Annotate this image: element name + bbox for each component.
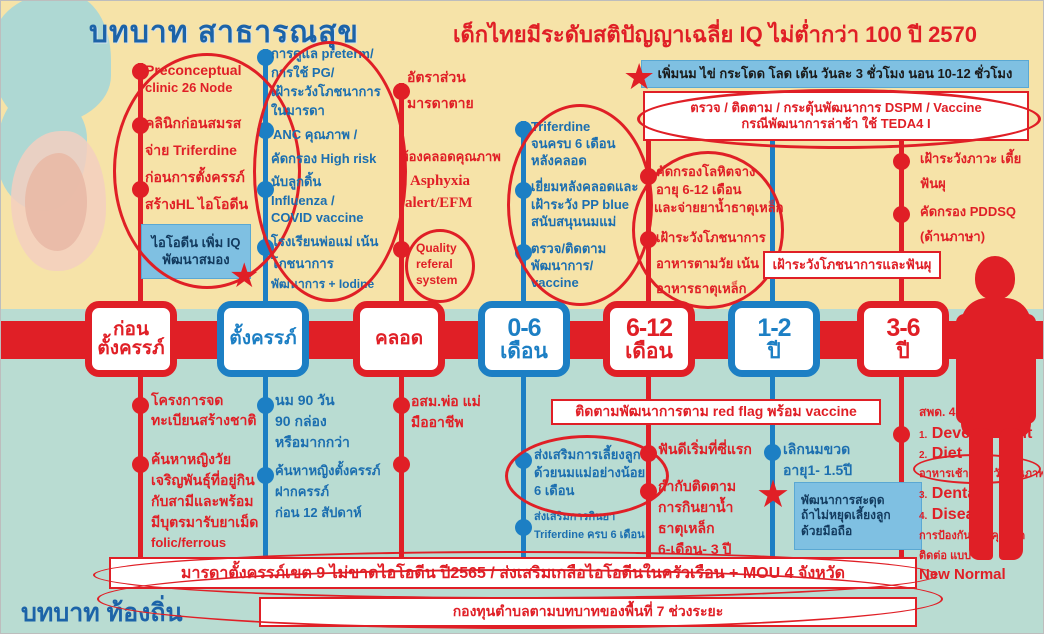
birth-ratio-line1: อัตราส่วน [407,69,466,86]
six-twelve-line3: และจ่ายยาน้ำธาตุเหล็ก [654,200,784,215]
zero-six-line8: พัฒนาการ/ [531,258,593,273]
bottom-pre-line7: folic/ferrous [151,535,226,550]
child-silhouette-illustration [959,256,1033,576]
bottom-one-two-line2: อายุ1- 1.5ปี [783,462,852,479]
zero-six-line9: vaccine [531,275,579,290]
node-dot-36-1 [893,153,910,170]
anc-line6: คัดกรอง High risk [271,151,376,166]
anc-line7: นับลูกดิ้น [271,174,321,189]
birth-efm-line: alert/EFM [405,195,472,213]
node-dot-pre-b2 [132,456,149,473]
star-icon-activity: ★ [623,59,655,95]
node-dot-pre-b1 [132,397,149,414]
quality-referral-line1: Quality [416,241,457,255]
zero-six-line2: จนครบ 6 เดือน [531,136,615,151]
bottom-pre-line3: ค้นหาหญิงวัย [151,451,231,468]
zero-six-line4: เยี่ยมหลังคลอดและ [531,179,638,194]
stage-box-pregnancy[interactable]: ตั้งครรภ์ [217,301,309,377]
preconceptual-th-line2: จ่าย Triferdine [145,142,237,159]
bottom-six-twelve-line5: 6-เดือน- 3 ปี [658,541,731,558]
node-dot-preg-b2 [257,467,274,484]
activity-blue-banner: เพิ่มนม ไข่ กระโดด โลด เต้น วันละ 3 ชั่ว… [641,60,1029,88]
zero-six-line5: เฝ้าระวัง PP blue [531,197,629,212]
bottom-six-twelve-line4: ธาตุเหล็ก [658,520,715,537]
quality-referral-line2: referal [416,257,453,271]
node-dot-06-b2 [515,519,532,536]
zero-six-line1: Triferdine [531,119,590,134]
anc-line12: พัฒนาการ + Iodine [271,277,374,291]
bottom-preg-line4: ค้นหาหญิงตั้งครรภ์ [275,463,380,478]
three-six-line3: คัดกรอง PDDSQ [920,204,1016,219]
bottom-preg-line3: หรือมากกว่า [275,434,350,451]
tambon-fund-banner: กองทุนตำบลตามบทบาทของพื้นที่ 7 ช่วงระยะ [259,597,917,627]
connector-line-birth-top [399,83,404,303]
four-d-item-2-label: Diet [932,445,962,462]
dspm-callout-line2: กรณีพัฒนาการล่าช้า ใช้ TEDA4 I [741,116,930,132]
node-dot-birth-b1 [393,397,410,414]
nutrition-dental-callout: เฝ้าระวังโภชนาการและฟันผุ [763,251,941,279]
node-dot-06-1 [515,121,532,138]
bottom-preg-line5: ฝากครรภ์ [275,484,329,499]
node-dot-birth-2 [393,241,410,258]
node-dot-06-b1 [515,452,532,469]
page-title-local-role: บทบาท ท้องถิ่น [21,593,183,633]
anc-line4: ในมารดา [271,103,325,118]
node-dot-birth-b2 [393,456,410,473]
bottom-birth-line1: อสม.พ่อ แม่ [411,393,481,410]
red-flag-banner: ติดตามพัฒนาการตาม red flag พร้อม vaccine [551,399,881,425]
preconceptual-th-line3: ก่อนการตั้งครรภ์ [145,169,245,186]
stage-label-line1: 6-12 [626,316,672,342]
activity-blue-banner-text: เพิ่มนม ไข่ กระโดด โลด เต้น วันละ 3 ชั่ว… [658,66,1013,83]
connector-line-06-bottom [521,375,526,565]
preconceptual-en-line2: clinic 26 Node [145,80,232,95]
stage-label-line1: 1-2 [757,316,790,342]
bottom-six-twelve-line1: ฟันดีเริ่มที่ซี่แรก [658,441,752,458]
six-twelve-line2: อายุ 6-12 เดือน [656,182,742,197]
stage-label-line1: 0-6 [507,316,540,342]
bottom-pre-line5: กับสามีและพร้อม [151,493,254,510]
stage-label-line2: เดือน [500,341,548,362]
anc-line2: การใช้ PG/ [271,65,334,80]
anc-line9: COVID vaccine [271,210,364,225]
bottom-zero-six-line5: Triferdine ครบ 6 เดือน [534,529,645,542]
child-left-leg [969,428,993,560]
stage-label-line1: ก่อน [113,320,149,339]
star-icon-development: ★ [756,476,790,514]
bottom-zero-six-line3: 6 เดือน [534,483,574,498]
six-twelve-line4: เฝ้าระวังโภชนาการ [656,230,766,245]
child-right-leg [999,428,1023,560]
node-dot-612-b1 [640,445,657,462]
birth-quality-line: ท้องคลอดคุณภาพ [400,149,501,164]
anc-line3: เฝ้าระวังโภชนาการ [271,84,381,99]
anc-line8: Influenza / [271,193,335,208]
stage-box-birth[interactable]: คลอด [353,301,445,377]
star-icon-iodine: ★ [229,259,259,293]
iodine-banner: มารดาตั้งครรภ์เขต 9 ไม่ขาดไอโอดีน ปี2565… [109,557,917,589]
node-dot-612-b2 [640,483,657,500]
bottom-birth-line2: มืออาชีพ [411,414,464,431]
birth-asphyxia-line1: Asphyxia [410,173,470,191]
iodine-banner-text: มารดาตั้งครรภ์เขต 9 ไม่ขาดไอโอดีน ปี2565… [181,561,845,586]
node-dot-36-2 [893,206,910,223]
nutrition-dental-callout-text: เฝ้าระวังโภชนาการและฟันผุ [773,257,932,273]
birth-ratio-line2: มารดาตาย [407,95,474,112]
child-head [975,256,1015,300]
bottom-preg-line2: 90 กล่อง [275,413,327,430]
three-six-line4: (ด้านภาษา) [920,229,985,244]
fetus-illustration-inner [25,153,87,251]
node-dot-preg-2 [257,122,274,139]
bottom-zero-six-line2: ด้วยนมแม่อย่างน้อย [534,465,645,480]
tambon-fund-banner-text: กองทุนตำบลตามบทบาทของพื้นที่ 7 ช่วงระยะ [453,601,724,623]
child-right-arm [1019,314,1036,424]
dspm-callout: ตรวจ / ติดตาม / กระตุ้นพัฒนาการ DSPM / V… [643,91,1029,141]
stage-label-line1: คลอด [375,329,423,348]
four-d-item-2-num: 2. [919,450,927,461]
preconceptual-th-line1: คลินิกก่อนสมรส [145,115,241,132]
stage-label-line1: 3-6 [886,316,919,342]
iodine-iq-line2: พัฒนาสมอง [162,252,229,269]
six-twelve-line6: อาหารธาตุเหล็ก [656,281,747,296]
bottom-pre-line6: มีบุตรมารับยาเม็ด [151,514,258,531]
three-six-line2: ฟันผุ [920,176,946,191]
stage-label-line2: ตั้งครรภ์ [97,339,164,358]
dspm-callout-line1: ตรวจ / ติดตาม / กระตุ้นพัฒนาการ DSPM / V… [690,100,981,116]
four-d-item-1-num: 1. [919,430,927,441]
page-title-iq-goal: เด็กไทยมีระดับสติปัญญาเฉลี่ย IQ ไม่ต่ำกว… [453,17,977,52]
bottom-pre-line2: ทะเบียนสร้างชาติ [151,412,256,429]
anc-line10: โรงเรียนพ่อแม่ เน้น [271,234,378,249]
zero-six-line6: สนับสนุนนมแม่ [531,214,616,229]
anc-line1: การดูแล preterm/ [271,46,374,61]
child-left-arm [956,314,973,424]
bottom-six-twelve-line2: กำกับติดตาม [658,478,736,495]
stage-box-6-12-months[interactable]: 6-12 เดือน [603,301,695,377]
node-dot-06-2 [515,182,532,199]
red-flag-banner-text: ติดตามพัฒนาการตาม red flag พร้อม vaccine [575,403,857,421]
preconceptual-en-line1: Preconceptual [145,62,241,79]
stage-label-line1: ตั้งครรภ์ [229,329,296,348]
preconceptual-th-line4: สร้างHL ไอโอดีน [145,196,248,213]
mobile-warning-line1: พัฒนาการสะดุด [801,493,885,509]
mobile-warning-line2: ถ้าไม่หยุดเลี้ยงลูก [801,508,891,524]
anc-line5: ANC คุณภาพ / [273,127,357,142]
node-dot-36-b1 [893,426,910,443]
node-dot-06-3 [515,244,532,261]
node-dot-preg-b1 [257,397,274,414]
bottom-preg-line6: ก่อน 12 สัปดาห์ [275,505,362,520]
six-twelve-line5: อาหารตามวัย เน้น [656,256,759,271]
stage-label-line2: เดือน [625,341,673,362]
connector-line-preg-top [263,49,268,303]
infographic-root: บทบาท สาธารณสุข เด็กไทยมีระดับสติปัญญาเฉ… [0,0,1044,634]
connector-line-06-top [521,121,526,303]
four-d-item-4-num: 4. [919,511,927,522]
bottom-pre-line1: โครงการจด [151,392,223,409]
bottom-six-twelve-line3: การกินยาน้ำ [658,499,733,516]
stage-label-line2: ปี [896,341,909,362]
node-dot-12-b1 [764,444,781,461]
node-dot-612-2 [640,231,657,248]
quality-referral-line3: system [416,273,457,287]
iodine-iq-line1: ไอโอดีน เพิ่ม IQ [152,235,241,252]
bottom-pre-line4: เจริญพันธุ์ที่อยู่กิน [151,472,255,489]
three-six-line1: เฝ้าระวังภาวะ เตี้ย [920,151,1021,166]
four-d-item-3-num: 3. [919,490,927,501]
stage-box-1-2-years[interactable]: 1-2 ปี [728,301,820,377]
bottom-zero-six-line4: ส่งเสริมการกินยา [534,511,615,524]
bottom-zero-six-line1: ส่งเสริมการเลี้ยงลูก [534,447,641,462]
node-dot-612-1 [640,168,657,185]
stage-box-0-6-months[interactable]: 0-6 เดือน [478,301,570,377]
stage-label-line2: ปี [767,341,780,362]
mobile-phone-warning-box: พัฒนาการสะดุด ถ้าไม่หยุดเลี้ยงลูก ด้วยมื… [794,482,922,550]
anc-line11: โภชนาการ [271,256,334,271]
six-twelve-line1: คัดกรองโลหิตจาง [656,164,755,179]
bottom-preg-line1: นม 90 วัน [275,392,335,409]
zero-six-line3: หลังคลอด [531,153,587,168]
bottom-one-two-line1: เลิกนมขวด [783,441,850,458]
mobile-warning-line3: ด้วยมือถือ [801,524,852,540]
stage-box-3-6-years[interactable]: 3-6 ปี [857,301,949,377]
zero-six-line7: ตรวจ/ติดตาม [531,241,606,256]
stage-box-pre-pregnancy[interactable]: ก่อน ตั้งครรภ์ [85,301,177,377]
